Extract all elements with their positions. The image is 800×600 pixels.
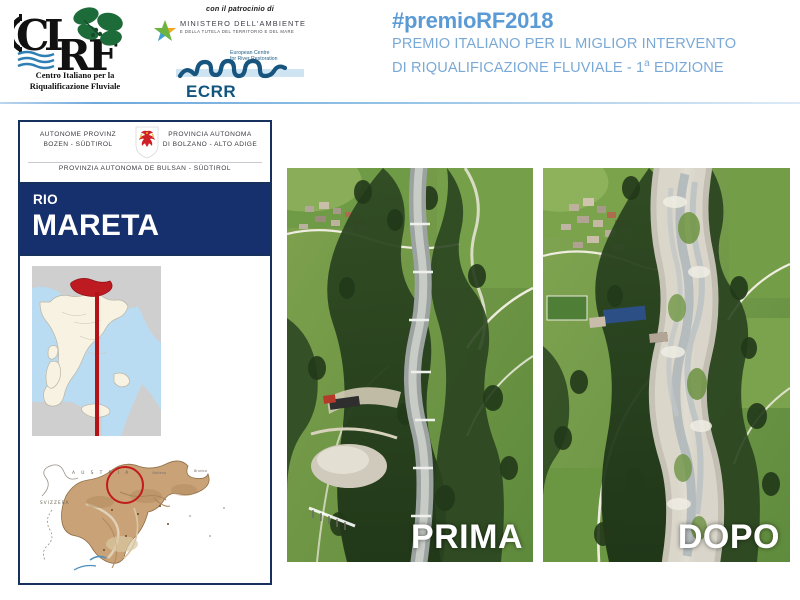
title-block: #premioRF2018 PREMIO ITALIANO PER IL MIG…	[392, 8, 792, 78]
river-info-panel: AUTONOME PROVINZ BOZEN - SÜDTIROL PROVIN…	[18, 120, 272, 585]
river-kicker: RIO	[33, 192, 58, 207]
ecrr-acronym: ECRR	[186, 82, 236, 102]
aerial-photo-river-before-icon	[287, 168, 533, 562]
page-header: C I R F Centro Italiano per la Riqualifi…	[0, 0, 800, 104]
province-italian-line2: DI BOLZANO - ALTO ADIGE	[154, 140, 266, 150]
patronage-label: con il patrocinio di	[170, 4, 310, 13]
photo-prima-label: PRIMA	[411, 518, 523, 556]
province-italian-line1: PROVINCIA AUTONOMA	[154, 130, 266, 140]
province-german-line1: AUTONOME PROVINZ	[26, 130, 130, 140]
patronage-block: con il patrocinio di MINISTERO DELL'AMBI…	[152, 4, 317, 100]
province-names-row: AUTONOME PROVINZ BOZEN - SÜDTIROL PROVIN…	[20, 122, 270, 162]
ministero-line2: E DELLA TUTELA DEL TERRITORIO E DEL MARE	[180, 29, 315, 34]
aerial-photo-river-after-icon	[543, 168, 790, 562]
svg-text:SVIZZERA: SVIZZERA	[40, 500, 70, 505]
province-name-ladin: PROVINZIA AUTONOMA DE BULSAN - SÜDTIROL	[20, 165, 270, 172]
province-divider	[28, 162, 262, 163]
header-divider	[0, 102, 800, 104]
down-arrow-shaft	[95, 292, 99, 436]
ecrr-tagline: European Centre for River Restoration	[230, 50, 278, 63]
province-name-german: AUTONOME PROVINZ BOZEN - SÜDTIROL	[26, 130, 130, 149]
site-circle-marker-icon	[106, 466, 144, 504]
river-name: MARETA	[32, 208, 159, 244]
award-subtitle-line1: PREMIO ITALIANO PER IL MIGLIOR INTERVENT…	[392, 34, 792, 54]
cirf-logo: C I R F Centro Italiano per la Riqualifi…	[14, 6, 136, 98]
photo-dopo-label: DOPO	[678, 518, 780, 556]
award-subtitle-line2-post: EDIZIONE	[650, 60, 724, 76]
ministero-logo: MINISTERO DELL'AMBIENTE E DELLA TUTELA D…	[152, 18, 317, 44]
province-header: AUTONOME PROVINZ BOZEN - SÜDTIROL PROVIN…	[20, 122, 270, 184]
river-title-band: RIO MARETA	[20, 184, 270, 256]
ministero-line1: MINISTERO DELL'AMBIENTE	[180, 19, 315, 28]
photo-dopo: DOPO	[543, 168, 790, 562]
ministero-text: MINISTERO DELL'AMBIENTE E DELLA TUTELA D…	[180, 19, 315, 34]
award-subtitle-line2-pre: DI RIQUALIFICAZIONE FLUVIALE - 1	[392, 60, 644, 76]
ecrr-logo: European Centre for River Restoration EC…	[168, 48, 316, 102]
svg-text:Vipiteno: Vipiteno	[152, 471, 166, 475]
cirf-leaf-water-logo-icon: C I R F	[14, 6, 136, 74]
cirf-caption-line1: Centro Italiano per la	[14, 70, 136, 81]
ministero-star-icon	[152, 18, 178, 44]
map-area: A U S T R I A SVIZZERA Vipiteno Brunico	[20, 256, 270, 583]
award-hashtag: #premioRF2018	[392, 8, 792, 34]
ecrr-tagline-line2: for River Restoration	[230, 56, 278, 62]
cirf-caption: Centro Italiano per la Riqualificazione …	[14, 70, 136, 91]
trentino-detail-map: A U S T R I A SVIZZERA Vipiteno Brunico	[34, 452, 258, 576]
italy-locator-map	[32, 266, 161, 436]
province-name-italian: PROVINCIA AUTONOMA DI BOLZANO - ALTO ADI…	[154, 130, 266, 149]
trentino-relief-geometry: A U S T R I A SVIZZERA Vipiteno Brunico	[34, 452, 258, 576]
cirf-caption-line2: Riqualificazione Fluviale	[14, 81, 136, 92]
province-german-line2: BOZEN - SÜDTIROL	[26, 140, 130, 150]
svg-text:Brunico: Brunico	[194, 469, 207, 473]
award-subtitle-line2: DI RIQUALIFICAZIONE FLUVIALE - 1a EDIZIO…	[392, 54, 792, 78]
photo-prima: PRIMA	[287, 168, 533, 562]
